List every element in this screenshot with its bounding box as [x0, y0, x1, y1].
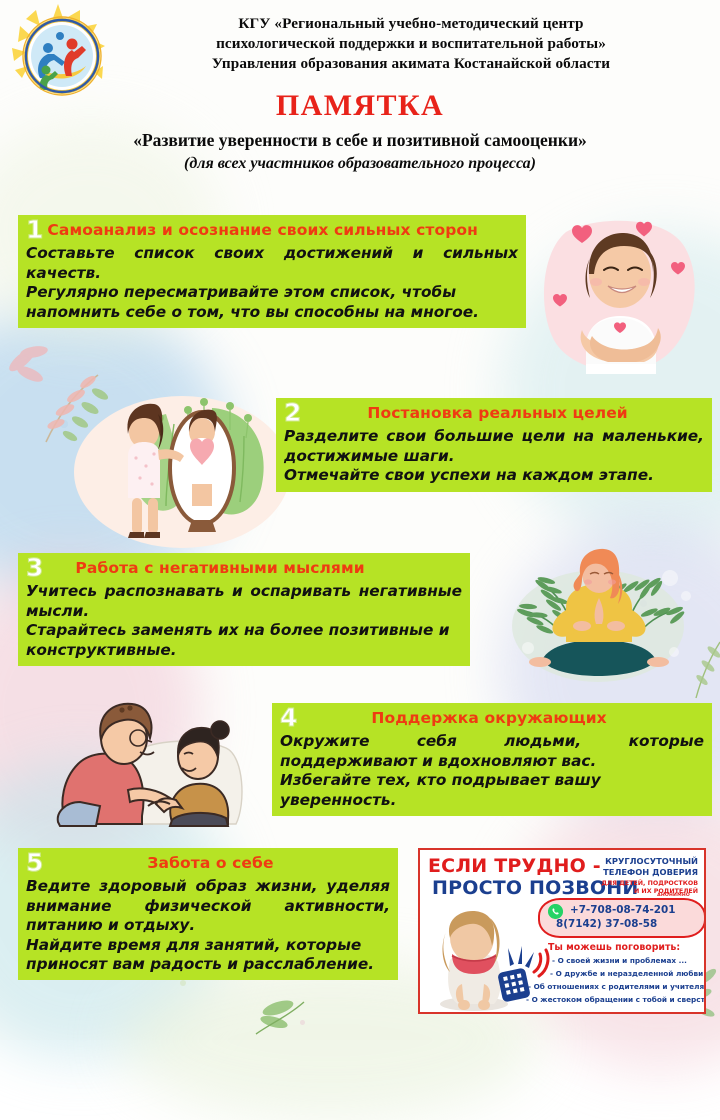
- poster-title-line-1: ЕСЛИ ТРУДНО -: [428, 855, 601, 877]
- poster-audience-line-1: ДЛЯ ДЕТЕЙ, ПОДРОСТКОВ: [601, 880, 698, 888]
- section-4-heading: Поддержка окружающих: [371, 709, 606, 727]
- poster-topic-3: - Об отношениях с родителями и учителями…: [528, 982, 706, 991]
- anonymous-label: АНОНИМНО: [657, 893, 690, 898]
- section-3-heading: Работа с негативными мыслями: [75, 559, 364, 577]
- poster-hotline-label-line-1: КРУГЛОСУТОЧНЫЙ: [603, 856, 698, 867]
- section-1-paragraph-1: Составьте список своих достижений и силь…: [26, 244, 518, 283]
- section-2-heading: Постановка реальных целей: [367, 404, 627, 422]
- poster-can-talk-label: Ты можешь поговорить:: [548, 942, 680, 953]
- sun-emblem-logo: [10, 4, 110, 104]
- section-1-body: Составьте список своих достижений и силь…: [26, 244, 518, 322]
- org-line-1: КГУ «Региональный учебно-методический це…: [120, 14, 702, 34]
- section-5-title: 5Забота о себе: [26, 850, 390, 876]
- illustration-woman-meditating: [498, 548, 704, 688]
- phone-number-bubble: АНОНИМНО +7-708-08-74-201 8(7142) 37-08-…: [538, 898, 706, 938]
- section-2-body: Разделите свои большие цели на маленькие…: [284, 427, 704, 485]
- org-line-3: Управления образования акимата Костанайс…: [120, 54, 702, 74]
- section-1-block: 1Самоанализ и осознание своих сильных ст…: [18, 215, 526, 328]
- decorative-leaf-bottom-center: [248, 990, 308, 1038]
- section-1-number: 1: [26, 215, 43, 244]
- poster-topic-2: - О дружбе и неразделенной любви ...: [550, 969, 706, 978]
- poster-hotline-label: КРУГЛОСУТОЧНЫЙ ТЕЛЕФОН ДОВЕРИЯ: [603, 856, 698, 878]
- section-1-paragraph-2: Регулярно пересматривайте этом список, ч…: [26, 283, 518, 322]
- org-line-2: психологической поддержки и воспитательн…: [120, 34, 702, 54]
- helpline-poster: ЕСЛИ ТРУДНО - ПРОСТО ПОЗВОНИ КРУГЛОСУТОЧ…: [418, 848, 706, 1014]
- document-header: КГУ «Региональный учебно-методический це…: [0, 0, 720, 173]
- section-3-body: Учитесь распознавать и оспаривать негати…: [26, 582, 462, 660]
- section-4-paragraph-2: Избегайте тех, кто подрывает вашу уверен…: [280, 771, 704, 810]
- section-5-block: 5Забота о себе Ведите здоровый образ жиз…: [18, 848, 398, 980]
- section-3-block: 3Работа с негативными мыслями Учитесь ра…: [18, 553, 470, 666]
- section-4-body: Окружите себя людьми, которые поддержива…: [280, 732, 704, 810]
- section-2-paragraph-2: Отмечайте свои успехи на каждом этапе.: [284, 466, 704, 485]
- section-3-paragraph-1: Учитесь распознавать и оспаривать негати…: [26, 582, 462, 621]
- section-2-block: 2Постановка реальных целей Разделите сво…: [276, 398, 712, 492]
- whatsapp-icon: [548, 904, 563, 919]
- poster-topic-1: - О своей жизни и проблемах ...: [552, 956, 687, 965]
- section-4-title: 4Поддержка окружающих: [280, 705, 704, 731]
- helpline-phone-1[interactable]: +7-708-08-74-201: [570, 904, 675, 916]
- poster-hotline-label-line-2: ТЕЛЕФОН ДОВЕРИЯ: [603, 867, 698, 878]
- section-3-number: 3: [26, 553, 43, 582]
- section-2-number: 2: [284, 398, 301, 427]
- section-5-paragraph-1: Ведите здоровый образ жизни, уделяя вним…: [26, 877, 390, 935]
- section-4-block: 4Поддержка окружающих Окружите себя людь…: [272, 703, 712, 816]
- illustration-adult-child-talking: [30, 694, 262, 834]
- section-4-paragraph-1: Окружите себя людьми, которые поддержива…: [280, 732, 704, 771]
- section-5-body: Ведите здоровый образ жизни, уделяя вним…: [26, 877, 390, 974]
- document-audience-note: (для всех участников образовательного пр…: [0, 155, 720, 173]
- document-subtitle: «Развитие уверенности в себе и позитивно…: [0, 130, 720, 151]
- section-5-heading: Забота о себе: [147, 854, 273, 872]
- poster-topic-4: - О жестоком обращении с тобой и сверстн…: [526, 995, 706, 1004]
- section-5-paragraph-2: Найдите время для занятий, которые прино…: [26, 936, 390, 975]
- section-1-heading: Самоанализ и осознание своих сильных сто…: [47, 221, 478, 239]
- illustration-woman-self-hug: [524, 212, 714, 377]
- section-2-paragraph-1: Разделите свои большие цели на маленькие…: [284, 427, 704, 466]
- decorative-flower-left: [0, 330, 70, 390]
- section-5-number: 5: [26, 848, 43, 877]
- organization-name: КГУ «Региональный учебно-методический це…: [120, 14, 702, 75]
- illustration-girl-mirror: [62, 380, 292, 552]
- section-3-paragraph-2: Старайтесь заменять их на более позитивн…: [26, 621, 462, 660]
- section-2-title: 2Постановка реальных целей: [284, 400, 704, 426]
- section-3-title: 3Работа с негативными мыслями: [26, 555, 462, 581]
- section-4-number: 4: [280, 703, 297, 732]
- helpline-phone-2[interactable]: 8(7142) 37-08-58: [556, 918, 657, 930]
- section-1-title: 1Самоанализ и осознание своих сильных ст…: [26, 217, 518, 243]
